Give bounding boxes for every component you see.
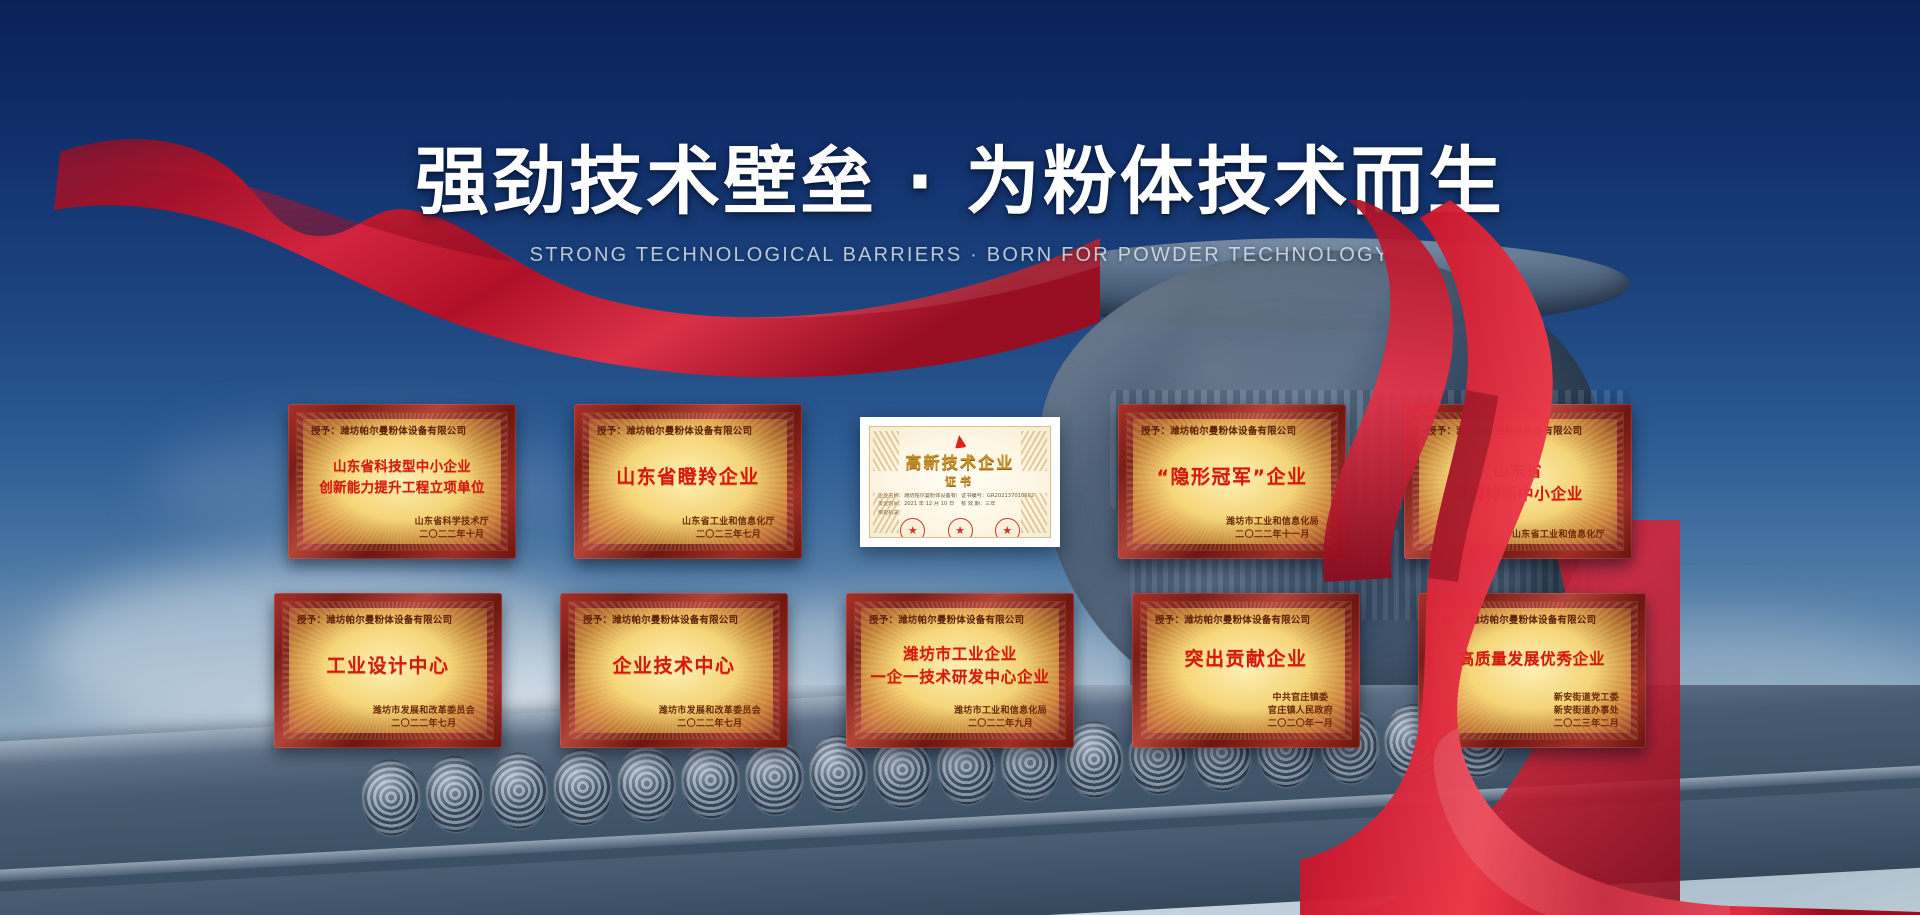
plaque-issuer-date: 二〇二二年九月 [954, 718, 1047, 731]
award-plaque[interactable]: 授予：潍坊帕尔曼粉体设备有限公司 山东省科技型中小企业 创新能力提升工程立项单位… [288, 404, 516, 559]
certificate-fields: 企业名称：潍坊帕尔曼粉体设备有限公司 证书编号：GR202137010602 发… [878, 493, 1042, 518]
plaque-issuer-line: 山东省工业和信息化厅 [682, 516, 775, 529]
seal-stamp-icon: ★ [900, 518, 925, 538]
award-plaque[interactable]: 授予：潍坊帕尔曼粉体设备有限公司 山东省瞪羚企业 山东省工业和信息化厅 二〇二三… [574, 404, 802, 559]
award-plaque[interactable]: 授予：潍坊帕尔曼粉体设备有限公司 高质量发展优秀企业 新安街道党工委 新安街道办… [1418, 593, 1646, 748]
plaque-issuer: 山东省科学技术厅 二〇二二年十月 [415, 516, 489, 542]
plaque-issuer-line: 山东省工业和信息化厅 [1512, 529, 1605, 542]
awards-row-2: 授予：潍坊帕尔曼粉体设备有限公司 工业设计中心 潍坊市发展和改革委员会 二〇二二… [0, 593, 1920, 748]
plaque-issuer-line: 中共官庄镇委 [1268, 692, 1333, 705]
plaque-issuer-date: 二〇二二年七月 [373, 718, 475, 731]
plaque-issuer-line: 潍坊市工业和信息化局 [954, 705, 1047, 718]
certificate-seals: ★ ★ ★ [878, 518, 1042, 538]
plaque-title-line: 创新能力提升工程立项单位 [319, 476, 485, 496]
plaque-title-line: 工业设计中心 [326, 651, 449, 678]
flame-icon [953, 434, 967, 449]
plaque-title: “隐形冠军”企业 [1139, 435, 1325, 516]
banner-title-block: 强劲技术壁垒 · 为粉体技术而生 STRONG TECHNOLOGICAL BA… [0, 140, 1920, 267]
plaque-issuer-date: 二〇二二年十一月 [1226, 529, 1319, 542]
certificate-title: 高新技术企业 [905, 449, 1014, 473]
plaque-issuer-line: 新安街道党工委 [1554, 692, 1619, 705]
plaque-issuer: 山东省工业和信息化厅 [1512, 529, 1605, 542]
plaque-title-line: 山东省 [1494, 459, 1543, 481]
plaque-title: 突出贡献企业 [1153, 624, 1339, 692]
high-tech-certificate[interactable]: 高新技术企业 证书 企业名称：潍坊帕尔曼粉体设备有限公司 证书编号：GR2021… [860, 417, 1060, 547]
plaque-issuer-line: 潍坊市工业和信息化局 [1226, 516, 1319, 529]
awards-gallery: 授予：潍坊帕尔曼粉体设备有限公司 山东省科技型中小企业 创新能力提升工程立项单位… [0, 404, 1920, 748]
plaque-title-line: 山东省瞪羚企业 [616, 462, 760, 489]
plaque-title: 潍坊市工业企业 一企一技术研发中心企业 [867, 624, 1053, 705]
plaque-issuer: 中共官庄镇委 官庄镇人民政府 二〇二〇年一月 [1268, 692, 1333, 731]
plaque-title-line: 山东省科技型中小企业 [333, 455, 471, 475]
award-plaque[interactable]: 授予：潍坊帕尔曼粉体设备有限公司 潍坊市工业企业 一企一技术研发中心企业 潍坊市… [846, 593, 1074, 748]
award-plaque[interactable]: 授予：潍坊帕尔曼粉体设备有限公司 企业技术中心 潍坊市发展和改革委员会 二〇二二… [560, 593, 788, 748]
certificate-subtitle: 证书 [945, 473, 975, 489]
page-title: 强劲技术壁垒 · 为粉体技术而生 [0, 140, 1920, 226]
seal-stamp-icon: ★ [995, 518, 1020, 538]
medallion-icon [488, 751, 550, 830]
plaque-issuer: 新安街道党工委 新安街道办事处 二〇二三年二月 [1554, 692, 1619, 731]
plaque-issuer-date: 二〇二二年十月 [415, 529, 489, 542]
medallion-icon [744, 737, 806, 816]
plaque-title: 工业设计中心 [295, 624, 481, 705]
ornament-corner-icon [1021, 431, 1047, 471]
ornament-corner-icon [873, 493, 899, 533]
plaque-issuer-line: 山东省科学技术厅 [415, 516, 489, 529]
plaque-title-line: 潍坊市工业企业 [903, 642, 1017, 664]
certificate-field: 审批机关： [878, 510, 1042, 518]
plaque-issuer-line: 新安街道办事处 [1554, 705, 1619, 718]
award-plaque[interactable]: 授予：潍坊帕尔曼粉体设备有限公司 山东省 专精特新中小企业 山东省工业和信息化厅 [1404, 404, 1632, 559]
plaque-issuer-date: 二〇二三年二月 [1554, 718, 1619, 731]
plaque-issuer-line: 潍坊市发展和改革委员会 [659, 705, 761, 718]
ornament-corner-icon [873, 431, 899, 471]
ornament-corner-icon [1021, 493, 1047, 533]
plaque-issuer: 潍坊市工业和信息化局 二〇二二年九月 [954, 705, 1047, 731]
plaque-title-line: 企业技术中心 [612, 651, 735, 678]
plaque-title-line: 突出贡献企业 [1184, 644, 1307, 671]
plaque-title: 企业技术中心 [581, 624, 767, 705]
plaque-title-line: 专精特新中小企业 [1453, 482, 1583, 504]
seal-stamp-icon: ★ [948, 518, 973, 538]
page-subtitle: STRONG TECHNOLOGICAL BARRIERS · BORN FOR… [0, 244, 1920, 267]
plaque-title-line: 高质量发展优秀企业 [1459, 647, 1606, 669]
banner-stage: 强劲技术壁垒 · 为粉体技术而生 STRONG TECHNOLOGICAL BA… [0, 0, 1920, 915]
plaque-issuer-line: 潍坊市发展和改革委员会 [373, 705, 475, 718]
plaque-issuer-date: 二〇二三年七月 [682, 529, 775, 542]
plaque-issuer: 潍坊市发展和改革委员会 二〇二二年七月 [659, 705, 761, 731]
medallion-icon [552, 747, 614, 826]
awards-row-1: 授予：潍坊帕尔曼粉体设备有限公司 山东省科技型中小企业 创新能力提升工程立项单位… [0, 404, 1920, 559]
medallion-icon [424, 754, 486, 833]
plaque-title-line: 一企一技术研发中心企业 [870, 665, 1049, 687]
plaque-issuer: 潍坊市工业和信息化局 二〇二二年十一月 [1226, 516, 1319, 542]
medallion-icon [680, 741, 742, 820]
plaque-issuer-line: 官庄镇人民政府 [1268, 705, 1333, 718]
plaque-title-line: “隐形冠军”企业 [1157, 462, 1308, 489]
plaque-title: 山东省瞪羚企业 [595, 435, 781, 516]
award-plaque[interactable]: 授予：潍坊帕尔曼粉体设备有限公司 突出贡献企业 中共官庄镇委 官庄镇人民政府 二… [1132, 593, 1360, 748]
award-plaque[interactable]: 授予：潍坊帕尔曼粉体设备有限公司 工业设计中心 潍坊市发展和改革委员会 二〇二二… [274, 593, 502, 748]
plaque-issuer: 潍坊市发展和改革委员会 二〇二二年七月 [373, 705, 475, 731]
plaque-issuer-date: 二〇二二年七月 [659, 718, 761, 731]
plaque-title: 山东省科技型中小企业 创新能力提升工程立项单位 [309, 435, 495, 516]
medallion-icon [616, 744, 678, 823]
plaque-issuer: 山东省工业和信息化厅 二〇二三年七月 [682, 516, 775, 542]
award-plaque[interactable]: 授予：潍坊帕尔曼粉体设备有限公司 “隐形冠军”企业 潍坊市工业和信息化局 二〇二… [1118, 404, 1346, 559]
medallion-icon [360, 758, 422, 837]
plaque-title: 山东省 专精特新中小企业 [1425, 435, 1611, 529]
plaque-issuer-date: 二〇二〇年一月 [1268, 718, 1333, 731]
plaque-title: 高质量发展优秀企业 [1439, 624, 1625, 692]
